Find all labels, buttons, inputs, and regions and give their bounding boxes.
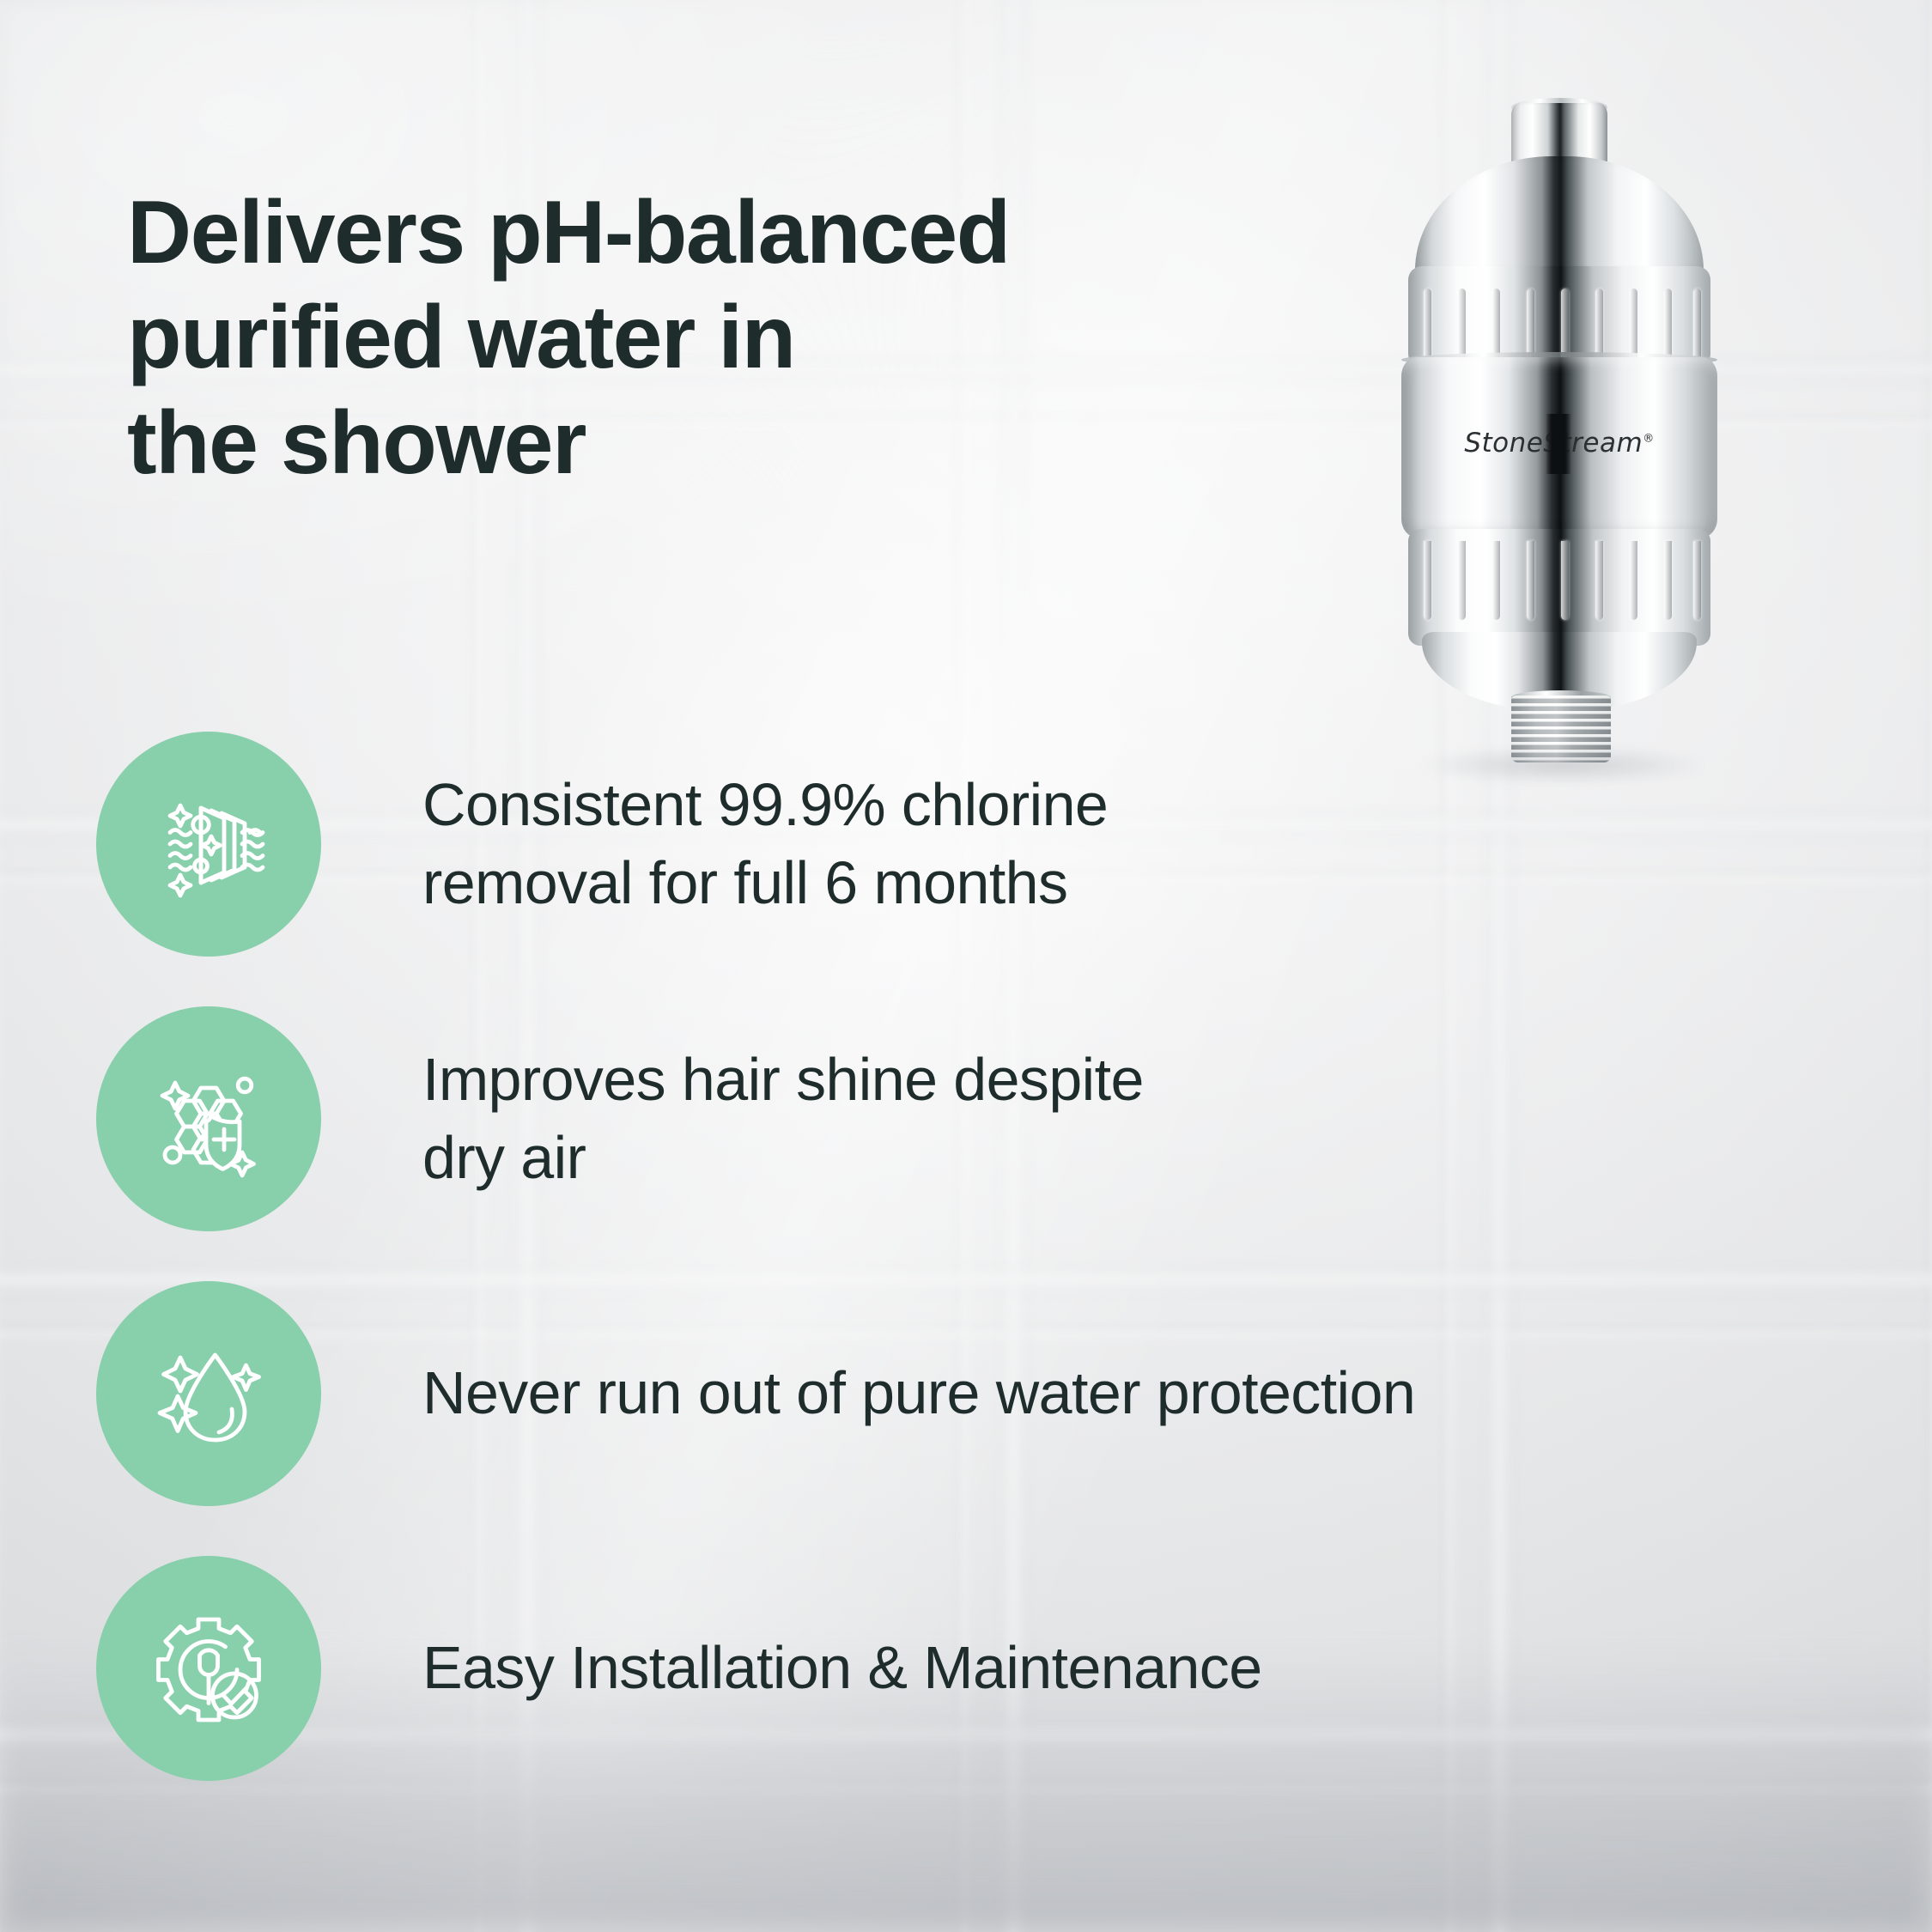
water-droplet-sparkle-icon [96,1281,321,1506]
feature-row: Consistent 99.9% chlorine removal for fu… [96,726,1779,962]
headline-line-3: the shower [127,391,1278,496]
product-brand-registered-mark: ® [1643,433,1655,446]
feature-text: Improves hair shine despite dry air [422,1041,1144,1197]
feature-row: Easy Installation & Maintenance [96,1550,1779,1786]
gear-wrench-check-icon [96,1556,321,1781]
honeycomb-shield-icon [96,1006,321,1231]
product-lower-ribbed-band [1408,529,1710,646]
feature-text-line: Consistent 99.9% chlorine [422,766,1108,844]
headline-line-1: Delivers pH-balanced [127,180,1278,286]
filter-layers-waves-icon [96,732,321,957]
feature-row: Never run out of pure water protection [96,1275,1779,1511]
product-image-shower-filter: StoneStream® [1374,94,1743,807]
feature-text: Easy Installation & Maintenance [422,1629,1262,1707]
headline-line-2: purified water in [127,285,1278,391]
feature-text: Never run out of pure water protection [422,1354,1415,1432]
feature-text-line: Improves hair shine despite [422,1041,1144,1119]
feature-row: Improves hair shine despite dry air [96,1000,1779,1236]
feature-text-line: removal for full 6 months [422,844,1108,922]
product-reflection-stripe [1546,414,1571,474]
feature-list: Consistent 99.9% chlorine removal for fu… [96,726,1779,1825]
feature-text-line: dry air [422,1119,1144,1197]
product-feature-infographic: Delivers pH-balanced purified water in t… [0,0,1932,1932]
feature-text-line: Easy Installation & Maintenance [422,1629,1262,1707]
headline: Delivers pH-balanced purified water in t… [127,180,1278,496]
product-lower-ribs [1408,529,1710,646]
feature-text: Consistent 99.9% chlorine removal for fu… [422,766,1108,922]
feature-text-line: Never run out of pure water protection [422,1354,1415,1432]
